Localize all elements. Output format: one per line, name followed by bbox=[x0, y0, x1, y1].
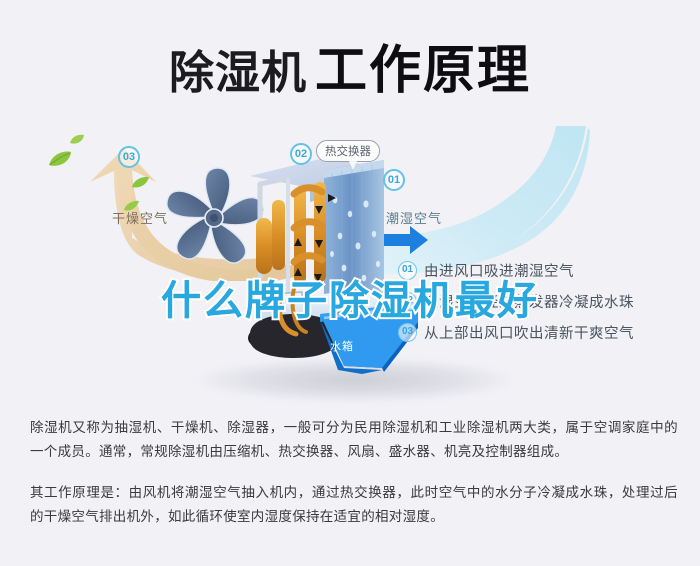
marker-03: 03 bbox=[118, 146, 140, 168]
title-part-1: 除湿机 bbox=[169, 47, 307, 98]
leaf-icon bbox=[132, 176, 149, 189]
page-title: 除湿机工作原理 bbox=[0, 28, 700, 103]
label-dry-air: 干燥空气 bbox=[112, 208, 168, 227]
label-humid-air: 潮湿空气 bbox=[386, 208, 442, 227]
marker-01: 01 bbox=[383, 169, 405, 191]
title-part-2: 工作原理 bbox=[315, 42, 531, 100]
leaf-icon bbox=[70, 134, 84, 145]
watermark-overlay: 什么牌子除湿机最好 bbox=[0, 268, 700, 326]
page-root: 除湿机工作原理 bbox=[0, 0, 700, 566]
leaf-icon bbox=[48, 150, 72, 168]
article-body: 除湿机又称为抽湿机、干燥机、除湿器，一般可分为民用除湿机和工业除湿机两大类，属于… bbox=[30, 416, 678, 529]
marker-02: 02 bbox=[290, 143, 312, 165]
paragraph-1: 除湿机又称为抽湿机、干燥机、除湿器，一般可分为民用除湿机和工业除湿机两大类，属于… bbox=[30, 416, 678, 464]
label-water-tank: 水箱 bbox=[330, 338, 354, 354]
callout-tail-icon bbox=[348, 159, 358, 170]
paragraph-2: 其工作原理是：由风机将潮湿空气抽入机内，通过热交换器，此时空气中的水分子冷凝成水… bbox=[30, 481, 678, 529]
